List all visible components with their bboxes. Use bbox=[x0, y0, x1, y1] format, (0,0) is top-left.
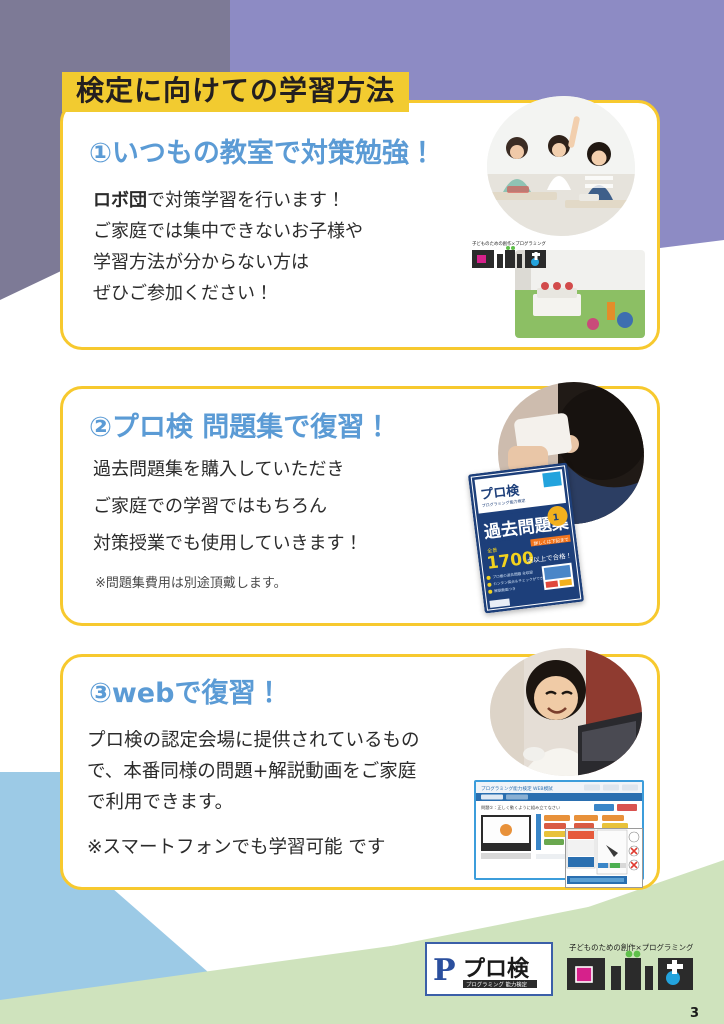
photo-classroom bbox=[487, 96, 635, 236]
svg-text:子どものための創作×プログラミング: 子どものための創作×プログラミング bbox=[472, 240, 547, 247]
section-3-heading: ③webで復習！ bbox=[89, 671, 282, 710]
svg-text:プロ検: プロ検 bbox=[463, 957, 530, 982]
smartphone-quiz-screenshot bbox=[565, 828, 643, 888]
section-2-note: ※問題集費用は別途頂戴します。 bbox=[95, 572, 287, 591]
robodan-logo-inline: 子どものための創作×プログラミング bbox=[470, 238, 548, 272]
page-title-banner: 検定に向けての学習方法 bbox=[62, 72, 409, 112]
page-title: 検定に向けての学習方法 bbox=[76, 74, 395, 107]
photo-boy-at-laptop bbox=[490, 648, 642, 776]
svg-text:P: P bbox=[433, 953, 456, 988]
footer: P プロ検 プログラミング 能力検定 子どものための創作×プログラミング bbox=[0, 930, 724, 1024]
svg-text:子どものための創作×プログラミング: 子どものための創作×プログラミング bbox=[569, 943, 694, 952]
robodan-logo-footer: 子どものための創作×プログラミング bbox=[563, 938, 697, 996]
svg-text:プログラミング 能力検定: プログラミング 能力検定 bbox=[466, 981, 528, 989]
svg-text:1: 1 bbox=[552, 513, 559, 524]
section-1-line-1-rest: で対策学習を行います！ bbox=[147, 190, 345, 211]
prokken-logo: P プロ検 プログラミング 能力検定 bbox=[425, 942, 553, 996]
section-2-heading: ②プロ検 問題集で復習！ bbox=[89, 405, 391, 444]
page-number: 3 bbox=[690, 1006, 699, 1021]
workbook-cover: プロ検 プログラミング能力検定 過去問題集 1 詳しくは下記まで 全景 1700… bbox=[468, 462, 584, 613]
svg-text:プログラミング能力検定 WEB模試: プログラミング能力検定 WEB模試 bbox=[481, 785, 553, 792]
section-3-note: ※スマートフォンでも学習可能 です bbox=[87, 833, 385, 859]
svg-text:問題①：正しく動くように組み立てなさい: 問題①：正しく動くように組み立てなさい bbox=[481, 804, 560, 811]
section-1-heading: ①いつもの教室で対策勉強！ bbox=[89, 131, 436, 170]
section-1-bold-term: ロボ団 bbox=[93, 190, 147, 211]
